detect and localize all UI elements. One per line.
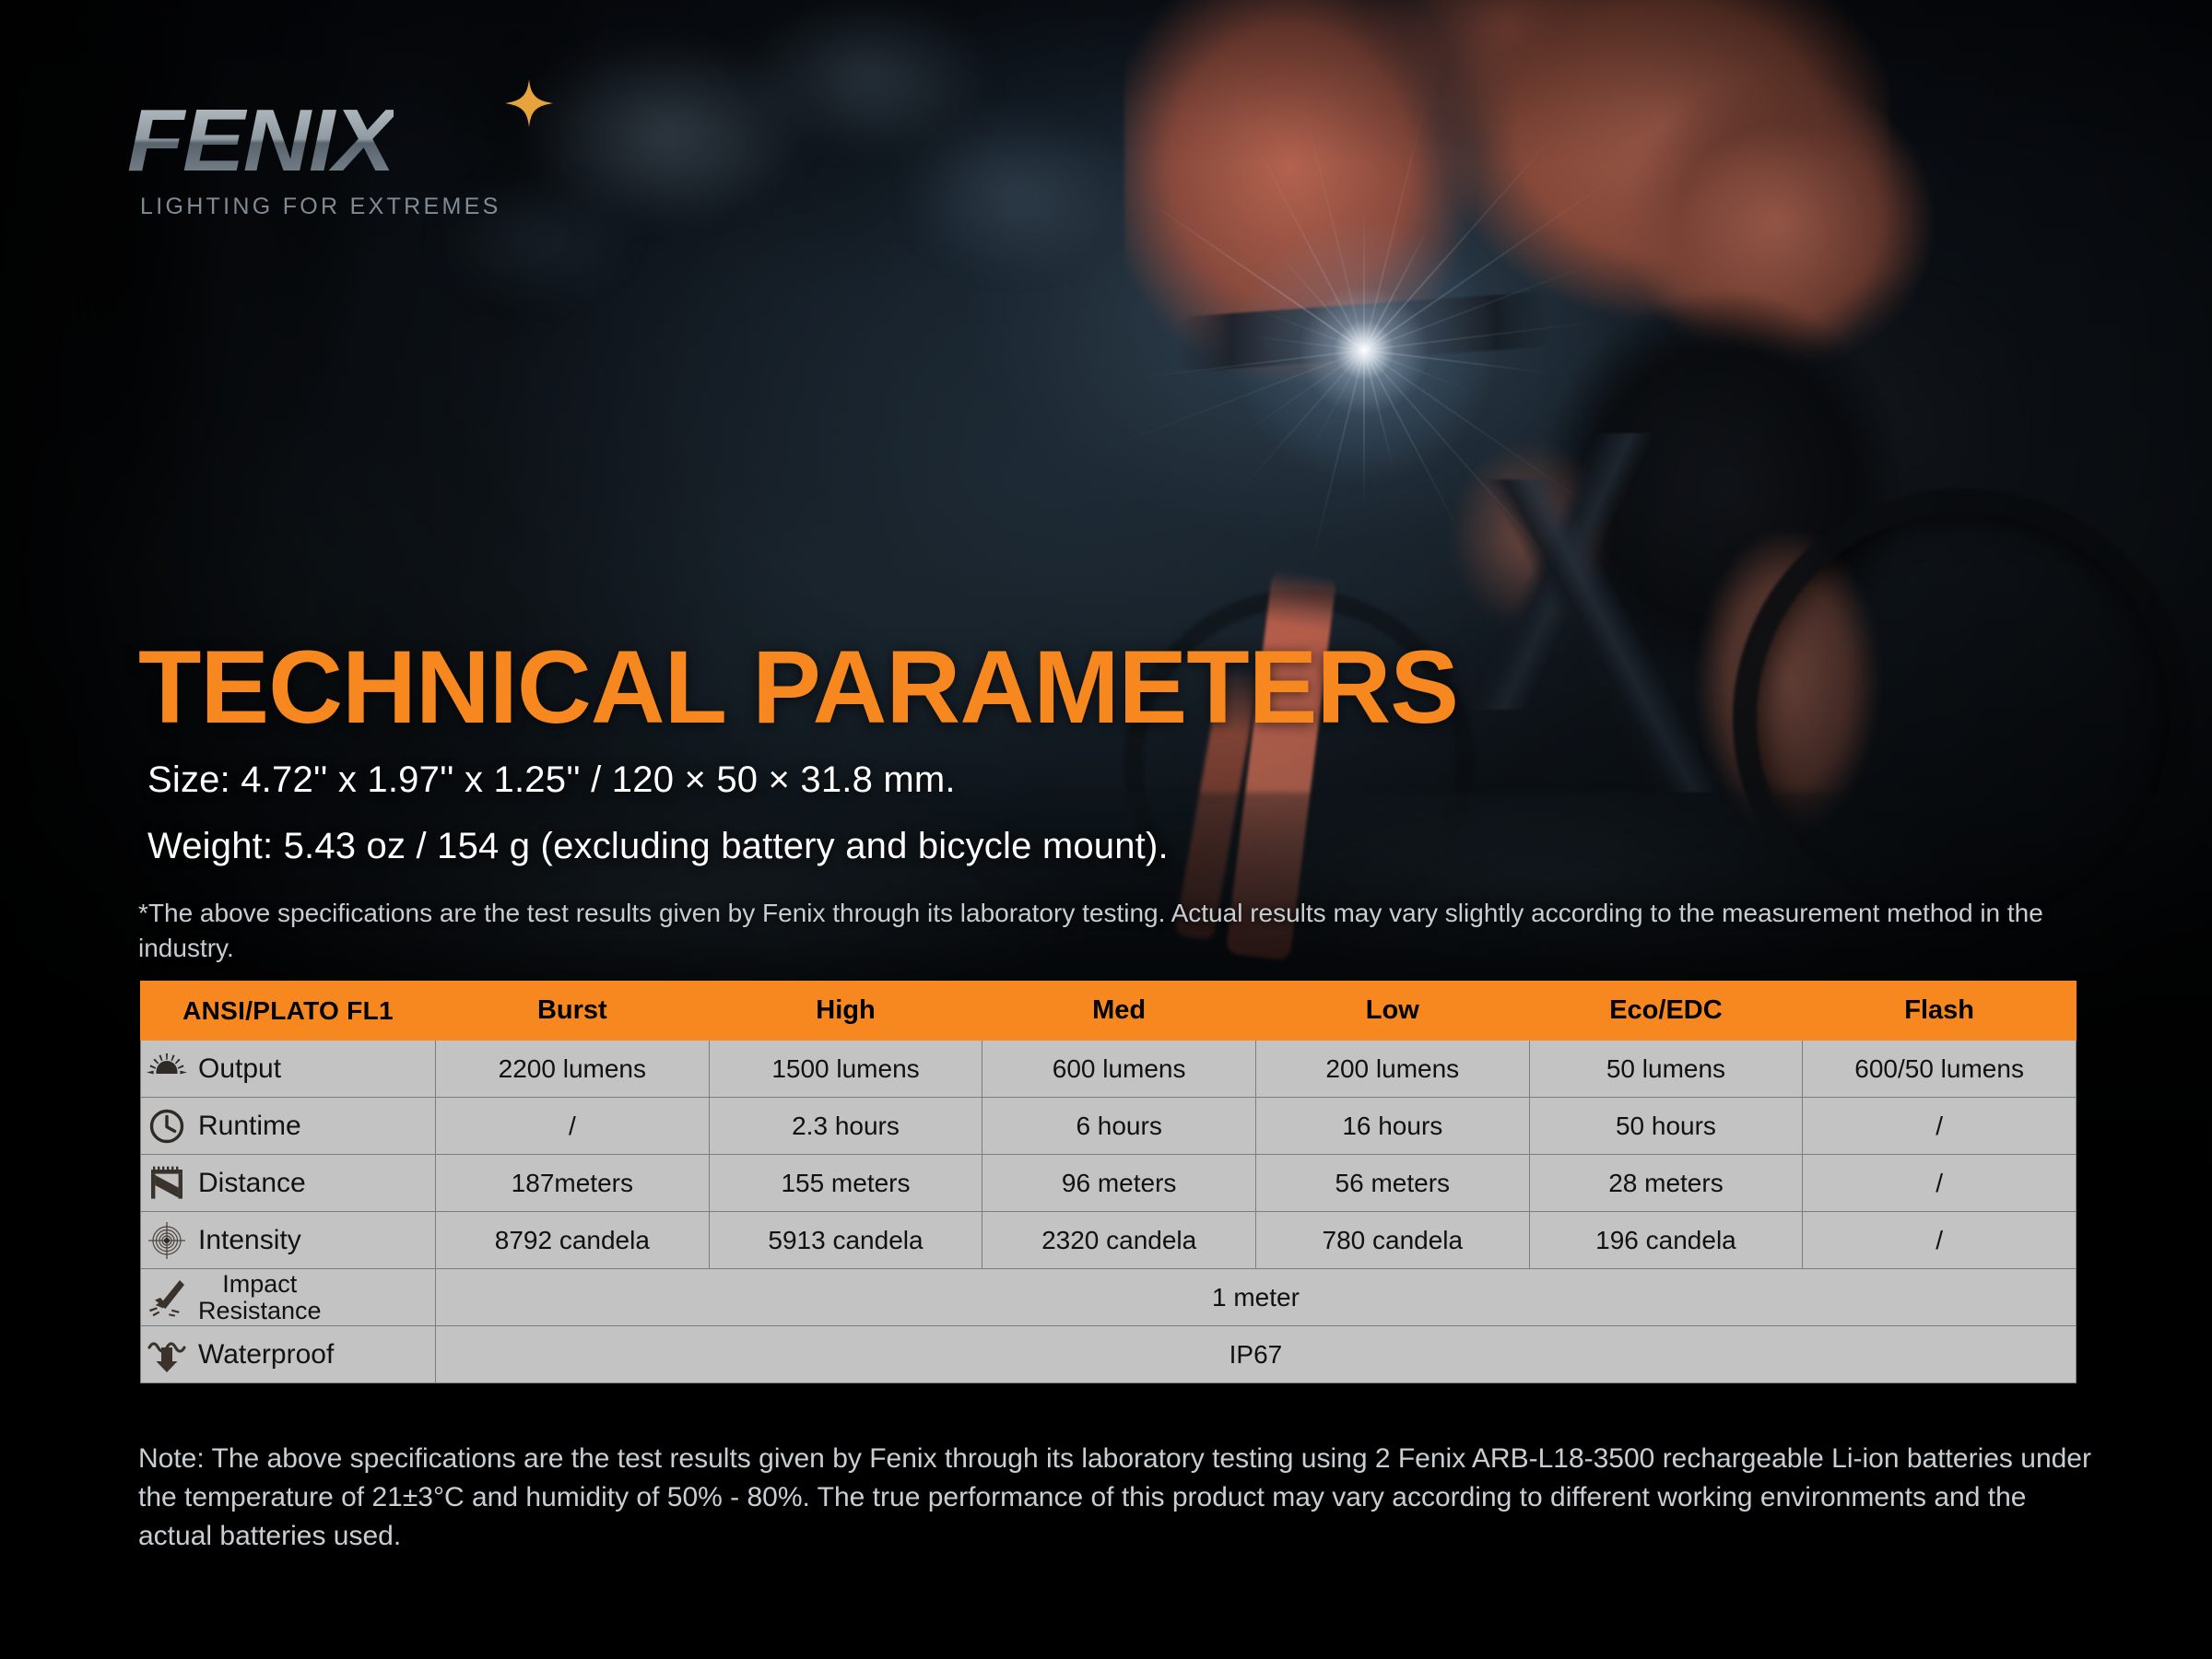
cell-output-high: 1500 lumens xyxy=(709,1041,982,1098)
cell-impact-resistance-value: 1 meter xyxy=(436,1269,2077,1326)
column-header-med: Med xyxy=(982,982,1256,1041)
cell-distance-med: 96 meters xyxy=(982,1155,1256,1212)
cell-intensity-burst: 8792 candela xyxy=(436,1212,710,1269)
column-header-low: Low xyxy=(1255,982,1529,1041)
poster-page: FENIX LIGHTING FOR EXTREMES TECHNICAL PA… xyxy=(0,0,2212,1659)
impact-label-line1: Impact xyxy=(222,1270,297,1298)
technical-parameters-table: ANSI/PLATO FL1 Burst High Med Low Eco/ED… xyxy=(140,981,2076,1383)
cell-output-eco-edc: 50 lumens xyxy=(1529,1041,1803,1098)
footer-note: Note: The above specifications are the t… xyxy=(138,1440,2101,1556)
light-burst-icon xyxy=(147,1049,187,1089)
row-label-runtime-text: Runtime xyxy=(198,1111,301,1142)
page-title: TECHNICAL PARAMETERS xyxy=(138,636,1458,739)
table-row-distance: Distance 187meters 155 meters 96 meters … xyxy=(141,1155,2077,1212)
brand-logo: FENIX LIGHTING FOR EXTREMES xyxy=(135,85,614,223)
beam-distance-icon xyxy=(147,1163,187,1204)
row-label-output-text: Output xyxy=(198,1053,281,1085)
table-row-impact-resistance: Impact Resistance 1 meter xyxy=(141,1269,2077,1326)
column-header-ansi: ANSI/PLATO FL1 xyxy=(141,982,436,1041)
cell-runtime-high: 2.3 hours xyxy=(709,1098,982,1155)
cell-runtime-eco-edc: 50 hours xyxy=(1529,1098,1803,1155)
table-header-row: ANSI/PLATO FL1 Burst High Med Low Eco/ED… xyxy=(141,982,2077,1041)
cell-output-burst: 2200 lumens xyxy=(436,1041,710,1098)
brand-tagline: LIGHTING FOR EXTREMES xyxy=(140,194,501,220)
cell-waterproof-value: IP67 xyxy=(436,1326,2077,1383)
row-label-waterproof-text: Waterproof xyxy=(198,1339,334,1371)
cell-distance-low: 56 meters xyxy=(1255,1155,1529,1212)
column-header-flash: Flash xyxy=(1803,982,2077,1041)
table-row-runtime: Runtime / 2.3 hours 6 hours 16 hours 50 … xyxy=(141,1098,2077,1155)
cell-output-med: 600 lumens xyxy=(982,1041,1256,1098)
row-label-impact-resistance: Impact Resistance xyxy=(141,1269,436,1326)
target-intensity-icon xyxy=(147,1220,187,1261)
table-row-intensity: Intensity 8792 candela 5913 candela 2320… xyxy=(141,1212,2077,1269)
cell-distance-burst: 187meters xyxy=(436,1155,710,1212)
waterproof-icon xyxy=(147,1335,187,1375)
cell-intensity-high: 5913 candela xyxy=(709,1212,982,1269)
row-label-impact-resistance-text: Impact Resistance xyxy=(198,1271,322,1323)
cell-distance-flash: / xyxy=(1803,1155,2077,1212)
cell-intensity-med: 2320 candela xyxy=(982,1212,1256,1269)
column-header-eco-edc: Eco/EDC xyxy=(1529,982,1803,1041)
cell-distance-eco-edc: 28 meters xyxy=(1529,1155,1803,1212)
impact-label-line2: Resistance xyxy=(198,1297,322,1324)
table-row-waterproof: Waterproof IP67 xyxy=(141,1326,2077,1383)
cell-runtime-med: 6 hours xyxy=(982,1098,1256,1155)
row-label-intensity-text: Intensity xyxy=(198,1225,301,1256)
spec-weight-line: Weight: 5.43 oz / 154 g (excluding batte… xyxy=(147,826,1169,867)
column-header-burst: Burst xyxy=(436,982,710,1041)
cell-intensity-flash: / xyxy=(1803,1212,2077,1269)
column-header-high: High xyxy=(709,982,982,1041)
four-point-star-icon xyxy=(501,79,553,131)
row-label-intensity: Intensity xyxy=(141,1212,436,1269)
cell-runtime-low: 16 hours xyxy=(1255,1098,1529,1155)
clock-icon xyxy=(147,1106,187,1147)
cell-output-flash: 600/50 lumens xyxy=(1803,1041,2077,1098)
row-label-distance-text: Distance xyxy=(198,1168,306,1199)
cell-intensity-low: 780 candela xyxy=(1255,1212,1529,1269)
spec-size-line: Size: 4.72'' x 1.97'' x 1.25'' / 120 × 5… xyxy=(147,759,956,801)
impact-resistance-icon xyxy=(147,1277,187,1318)
brand-wordmark: FENIX xyxy=(127,90,394,192)
cell-distance-high: 155 meters xyxy=(709,1155,982,1212)
row-label-runtime: Runtime xyxy=(141,1098,436,1155)
table-row-output: Output 2200 lumens 1500 lumens 600 lumen… xyxy=(141,1041,2077,1098)
row-label-waterproof: Waterproof xyxy=(141,1326,436,1383)
cell-runtime-burst: / xyxy=(436,1098,710,1155)
cell-intensity-eco-edc: 196 candela xyxy=(1529,1212,1803,1269)
cell-runtime-flash: / xyxy=(1803,1098,2077,1155)
cell-output-low: 200 lumens xyxy=(1255,1041,1529,1098)
row-label-output: Output xyxy=(141,1041,436,1098)
row-label-distance: Distance xyxy=(141,1155,436,1212)
disclaimer-text: *The above specifications are the test r… xyxy=(138,896,2083,965)
